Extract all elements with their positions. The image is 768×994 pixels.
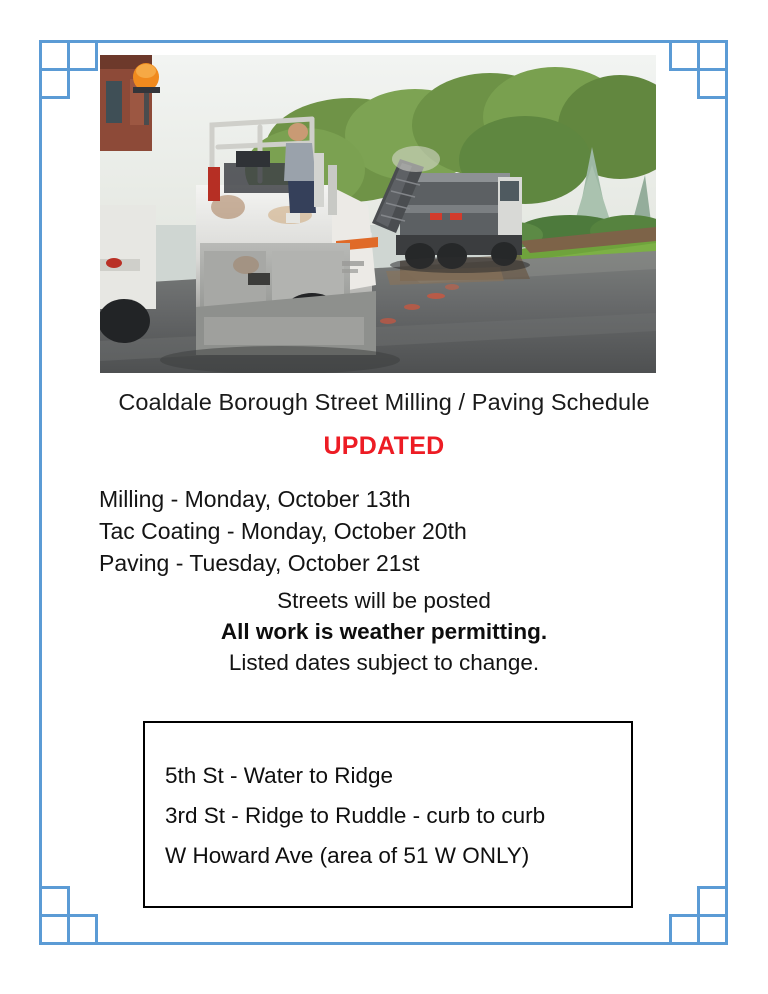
list-item: W Howard Ave (area of 51 W ONLY): [165, 836, 631, 876]
corner-square: [669, 914, 700, 945]
corner-square: [669, 40, 700, 71]
corner-ornament-bottom-left: [39, 883, 101, 945]
frame-top-border: [39, 40, 728, 43]
frame-right-border: [725, 40, 728, 945]
corner-square: [39, 914, 70, 945]
corner-square: [39, 886, 70, 917]
corner-square: [67, 40, 98, 71]
schedule-list: Milling - Monday, October 13th Tac Coati…: [44, 483, 724, 579]
corner-ornament-bottom-right: [666, 883, 728, 945]
list-item: 5th St - Water to Ridge: [165, 756, 631, 796]
schedule-item-paving: Paving - Tuesday, October 21st: [99, 547, 724, 579]
flyer-text-content: Coaldale Borough Street Milling / Paving…: [44, 386, 724, 678]
list-item: 3rd St - Ridge to Ruddle - curb to curb: [165, 796, 631, 836]
street-list-box: 5th St - Water to Ridge 3rd St - Ridge t…: [143, 721, 633, 908]
corner-square: [39, 40, 70, 71]
note-subject-to-change: Listed dates subject to change.: [44, 647, 724, 678]
page-title: Coaldale Borough Street Milling / Paving…: [44, 386, 724, 418]
frame-left-border: [39, 40, 42, 945]
corner-ornament-top-right: [666, 40, 728, 102]
corner-square: [697, 914, 728, 945]
schedule-item-milling: Milling - Monday, October 13th: [99, 483, 724, 515]
schedule-item-tac-coating: Tac Coating - Monday, October 20th: [99, 515, 724, 547]
flyer-page: Coaldale Borough Street Milling / Paving…: [0, 0, 768, 994]
corner-ornament-top-left: [39, 40, 101, 102]
photo-illustration: [100, 55, 656, 373]
street-list: 5th St - Water to Ridge 3rd St - Ridge t…: [145, 723, 631, 876]
corner-square: [697, 40, 728, 71]
note-streets-posted: Streets will be posted: [44, 585, 724, 616]
milling-operation-photo: [100, 55, 656, 373]
corner-square: [697, 68, 728, 99]
corner-square: [67, 914, 98, 945]
corner-square: [39, 68, 70, 99]
updated-badge: UPDATED: [44, 432, 724, 461]
corner-square: [697, 886, 728, 917]
note-weather-permitting: All work is weather permitting.: [44, 616, 724, 647]
frame-bottom-border: [39, 942, 728, 945]
